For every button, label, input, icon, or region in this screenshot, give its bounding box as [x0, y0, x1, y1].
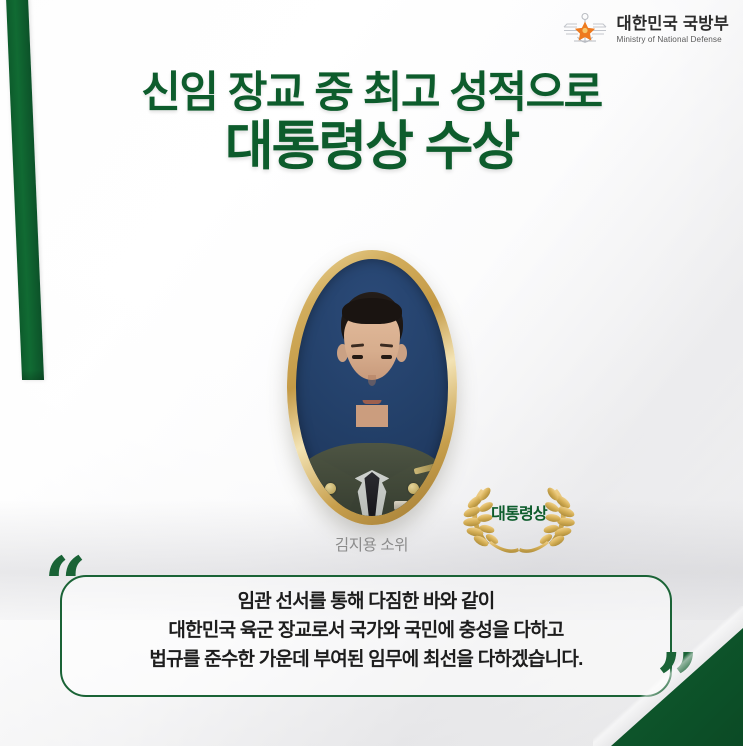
portrait-eye-right — [381, 355, 392, 359]
portrait-nose — [368, 375, 376, 386]
portrait-name-badge — [394, 501, 408, 510]
portrait-insignia-right-icon — [408, 483, 419, 494]
left-green-ribbon-decoration — [6, 0, 44, 380]
brand-text-block: 대한민국 국방부 Ministry of National Defense — [617, 16, 729, 44]
portrait-insignia-left-icon — [325, 483, 336, 494]
portrait-eye-left — [352, 355, 363, 359]
ministry-name-english: Ministry of National Defense — [617, 36, 729, 45]
quote-line-2: 대한민국 육군 장교로서 국가와 국민에 충성을 다하고 — [60, 617, 672, 646]
portrait-gold-frame — [287, 250, 457, 525]
portrait-neck — [356, 405, 388, 427]
quote-line-1: 임관 선서를 통해 다짐한 바와 같이 — [60, 588, 672, 617]
headline-line-1: 신임 장교 중 최고 성적으로 — [0, 70, 743, 116]
quote-line-3: 법규를 준수한 가운데 부여된 임무에 최선을 다하겠습니다. — [60, 646, 672, 675]
award-announcement-card: 대한민국 국방부 Ministry of National Defense 신임… — [0, 0, 743, 746]
portrait-container — [287, 250, 457, 525]
portrait-caption: 김지용 소위 — [0, 533, 743, 555]
ministry-brand-lockup: 대한민국 국방부 Ministry of National Defense — [562, 10, 729, 50]
portrait-mouth — [363, 400, 382, 404]
headline-block: 신임 장교 중 최고 성적으로 대통령상 수상 — [0, 70, 743, 179]
ministry-name-korean: 대한민국 국방부 — [617, 15, 729, 33]
award-badge: 대통령상 — [455, 479, 583, 557]
quote-text: 임관 선서를 통해 다짐한 바와 같이 대한민국 육군 장교로서 국가와 국민에… — [60, 588, 672, 675]
award-badge-label: 대통령상 — [455, 500, 583, 524]
portrait-photo — [296, 259, 448, 516]
mnd-star-wings-emblem-icon — [562, 10, 608, 50]
headline-line-2: 대통령상 수상 — [0, 116, 743, 179]
portrait-hair-fringe — [342, 298, 402, 324]
